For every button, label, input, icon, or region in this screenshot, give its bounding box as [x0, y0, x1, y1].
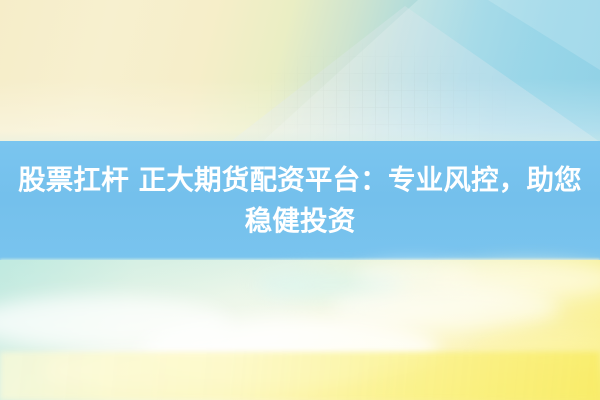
banner-headline: 股票扛杆 正大期货配资平台：专业风控，助您稳健投资 — [14, 160, 586, 240]
top-gradient-backdrop — [0, 0, 600, 142]
headline-band: 股票扛杆 正大期货配资平台：专业风控，助您稳健投资 — [0, 141, 600, 260]
bottom-yellow-wash — [0, 352, 600, 400]
promo-banner: 股票扛杆 正大期货配资平台：专业风控，助您稳健投资 — [0, 0, 600, 400]
top-fade-overlay — [0, 0, 600, 142]
